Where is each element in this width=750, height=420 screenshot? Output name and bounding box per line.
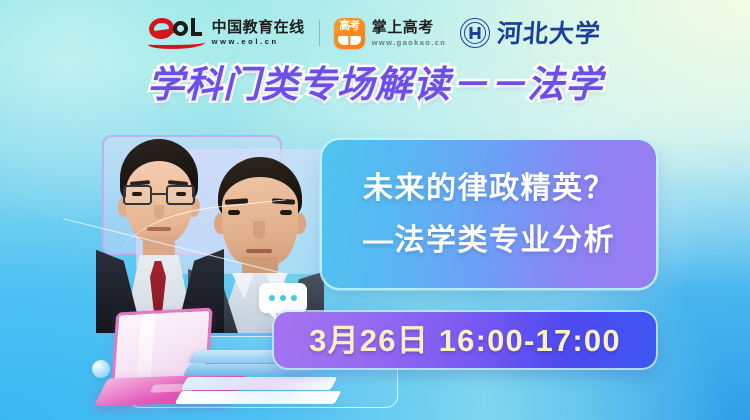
glow-orb-icon: [92, 360, 110, 378]
gaokao-app-icon: 高考: [334, 18, 365, 49]
logo-divider: [319, 20, 320, 46]
logo-gaokao: 高考 掌上高考 www.gaokao.cn: [334, 18, 447, 49]
date-time-badge: 3月26日 16:00-17:00: [274, 312, 656, 368]
logo-eol: 中国教育在线 www.eol.cn: [149, 17, 305, 49]
eol-logo-icon: [149, 17, 205, 49]
gaokao-brand-name: 掌上高考: [372, 20, 447, 35]
gaokao-icon-label: 高考: [334, 21, 365, 32]
eol-brand-name: 中国教育在线: [212, 20, 305, 35]
gaokao-brand-url: www.gaokao.cn: [372, 39, 447, 47]
headline-card: 未来的律政精英？ —法学类专业分析: [322, 140, 656, 288]
poster-canvas: 中国教育在线 www.eol.cn 高考 掌上高考 www.gaokao.cn …: [0, 0, 750, 420]
date-time-text: 3月26日 16:00-17:00: [309, 325, 621, 356]
page-title: 学科门类专场解读－－法学: [0, 64, 750, 105]
headline-line-2: —法学类专业分析: [322, 226, 656, 256]
eol-brand-url: www.eol.cn: [212, 38, 305, 46]
headline-line-1: 未来的律政精英？: [322, 174, 656, 204]
logo-bar: 中国教育在线 www.eol.cn 高考 掌上高考 www.gaokao.cn …: [0, 10, 750, 56]
hebei-university-name: 河北大学: [496, 21, 602, 46]
hebei-university-seal-icon: [460, 18, 490, 48]
logo-hebei-university: 河北大学: [460, 18, 601, 48]
chat-bubble-icon: [259, 283, 307, 313]
